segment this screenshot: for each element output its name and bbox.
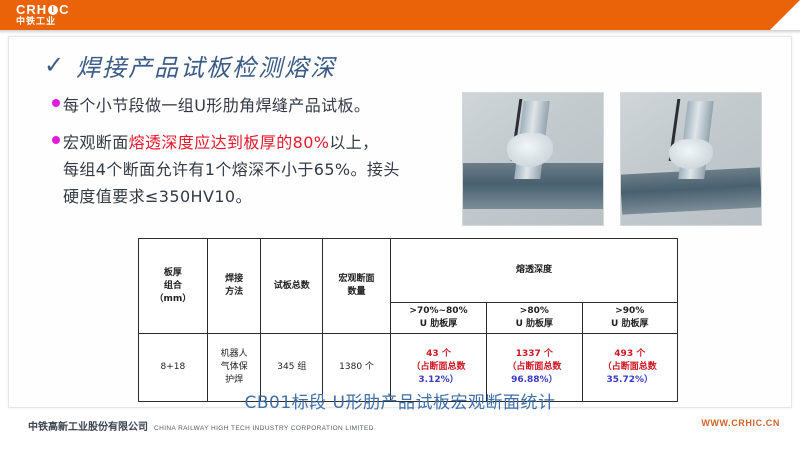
bullet-text: 宏观断面熔透深度应达到板厚的80%以上， 每组4个断面允许有1个熔深不小于65%… <box>63 129 400 210</box>
header-section-count-l2: 数量 <box>324 286 389 299</box>
cell-depth-90-note: （占断面总数 <box>584 361 676 374</box>
bullet-segment: 宏观断面 <box>63 133 129 152</box>
footer-company-en: CHINA RAILWAY HIGH TECH INDUSTRY CORPORA… <box>154 425 374 432</box>
header-depth-80-range: >80% <box>488 305 580 318</box>
statistics-table-wrapper: 板厚 组合 （mm） 焊接 方法 试板总数 宏观断面 数量 熔透深度 >70%~… <box>138 238 678 402</box>
slide-title: ✓ 焊接产品试板检测熔深 <box>44 48 336 83</box>
header-shadow <box>0 30 800 34</box>
footer-company-cn: 中铁高新工业股份有限公司 <box>28 422 148 433</box>
footer-url: WWW.CRHIC.CN <box>701 418 780 428</box>
slide-root: CRHIC 中铁工业 ✓ 焊接产品试板检测熔深 每个小节段做一组U形肋角焊缝产品… <box>0 0 800 450</box>
logo-globe-icon: I <box>48 5 58 15</box>
bullet-segment: 硬度值要求≤350HV10。 <box>63 187 252 206</box>
cell-depth-80-pct: 96.88%） <box>488 374 580 387</box>
cell-depth-90-pct: 35.72%） <box>584 374 676 387</box>
cell-method-l2: 气体保 <box>209 361 260 374</box>
crhic-logo: CRHIC 中铁工业 <box>16 3 70 27</box>
logo-text-left: CRH <box>16 3 47 16</box>
cell-depth-70-80-note: （占断面总数 <box>392 361 485 374</box>
header-depth-90-range: >90% <box>584 305 676 318</box>
header-total-coupons: 试板总数 <box>261 239 323 334</box>
header-penetration-depth-group: 熔透深度 <box>390 239 677 303</box>
list-item: 宏观断面熔透深度应达到板厚的80%以上， 每组4个断面允许有1个熔深不小于65%… <box>52 129 452 210</box>
header-depth-70-80-range: >70%~80% <box>392 305 485 318</box>
cell-method-l1: 机器人 <box>209 348 260 361</box>
logo-text-right: C <box>59 3 69 16</box>
bullet-segment: 以上， <box>329 133 378 152</box>
macro-section-photos <box>462 92 762 226</box>
cell-depth-90-count: 493 个 <box>584 348 676 361</box>
cell-depth-70-80-count: 43 个 <box>392 348 485 361</box>
header-depth-90-unit: U 肋板厚 <box>584 318 676 331</box>
header-depth-70-80: >70%~80% U 肋板厚 <box>390 303 486 334</box>
header-thickness-l2: 组合 <box>140 280 206 293</box>
cell-depth-80-note: （占断面总数 <box>488 361 580 374</box>
list-item: 每个小节段做一组U形肋角焊缝产品试板。 <box>52 92 452 119</box>
header-section-count-l1: 宏观断面 <box>324 273 389 286</box>
header-thickness-l3: （mm） <box>140 293 206 306</box>
bullet-segment: 每个小节段做一组U形肋角焊缝产品试板。 <box>63 96 370 115</box>
weld-macro-photo-1 <box>462 92 604 226</box>
header-bar <box>0 0 800 30</box>
weld-macro-photo-2 <box>620 92 762 226</box>
table-caption: CB01标段 U形肋产品试板宏观断面统计 <box>0 388 800 413</box>
header-depth-80: >80% U 肋板厚 <box>487 303 582 334</box>
header-depth-90: >90% U 肋板厚 <box>582 303 677 334</box>
bullet-segment-highlight: 熔透深度应达到板厚的80% <box>129 133 330 152</box>
check-icon: ✓ <box>44 54 64 78</box>
header-thickness-l1: 板厚 <box>140 267 206 280</box>
header-method: 焊接 方法 <box>207 239 261 334</box>
bullet-text: 每个小节段做一组U形肋角焊缝产品试板。 <box>63 92 370 119</box>
header-method-l2: 方法 <box>209 286 260 299</box>
cell-depth-70-80-pct: 3.12%） <box>392 374 485 387</box>
bullet-segment: 每组4个断面允许有1个熔深不小于65%。接头 <box>63 160 400 179</box>
page-title: 焊接产品试板检测熔深 <box>76 48 336 83</box>
header-method-l1: 焊接 <box>209 273 260 286</box>
header-depth-80-unit: U 肋板厚 <box>488 318 580 331</box>
bullet-list: 每个小节段做一组U形肋角焊缝产品试板。 宏观断面熔透深度应达到板厚的80%以上，… <box>52 92 452 220</box>
bullet-dot-icon <box>52 136 60 144</box>
cell-method-l3: 护焊 <box>209 374 260 387</box>
header-depth-70-80-unit: U 肋板厚 <box>392 318 485 331</box>
logo-subtitle: 中铁工业 <box>16 18 70 27</box>
bullet-dot-icon <box>52 99 60 107</box>
table-header-row-1: 板厚 组合 （mm） 焊接 方法 试板总数 宏观断面 数量 熔透深度 <box>139 239 678 303</box>
header-thickness: 板厚 组合 （mm） <box>139 239 208 334</box>
header-section-count: 宏观断面 数量 <box>323 239 391 334</box>
logo-wordmark: CRHIC <box>16 3 70 16</box>
statistics-table: 板厚 组合 （mm） 焊接 方法 试板总数 宏观断面 数量 熔透深度 >70%~… <box>138 238 678 402</box>
cell-depth-80-count: 1337 个 <box>488 348 580 361</box>
footer-company: 中铁高新工业股份有限公司CHINA RAILWAY HIGH TECH INDU… <box>28 418 374 433</box>
